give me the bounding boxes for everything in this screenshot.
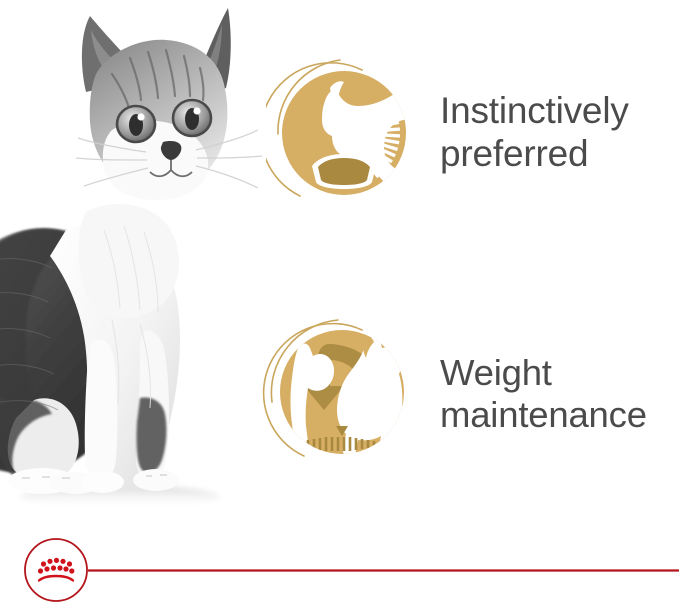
benefit-row-instinctively-preferred: Instinctively preferred (266, 48, 676, 218)
instinctively-preferred-icon (266, 48, 416, 218)
weight-maintenance-icon (258, 310, 418, 478)
benefit-label: Weight maintenance (440, 352, 647, 437)
benefit-row-weight-maintenance: Weight maintenance (258, 310, 679, 478)
marketing-feature-panel: Instinctively preferred (0, 0, 679, 611)
royal-canin-crown-logo (25, 539, 87, 601)
cat-photograph (0, 0, 262, 520)
brand-bar (0, 535, 679, 611)
benefit-label: Instinctively preferred (440, 90, 629, 176)
